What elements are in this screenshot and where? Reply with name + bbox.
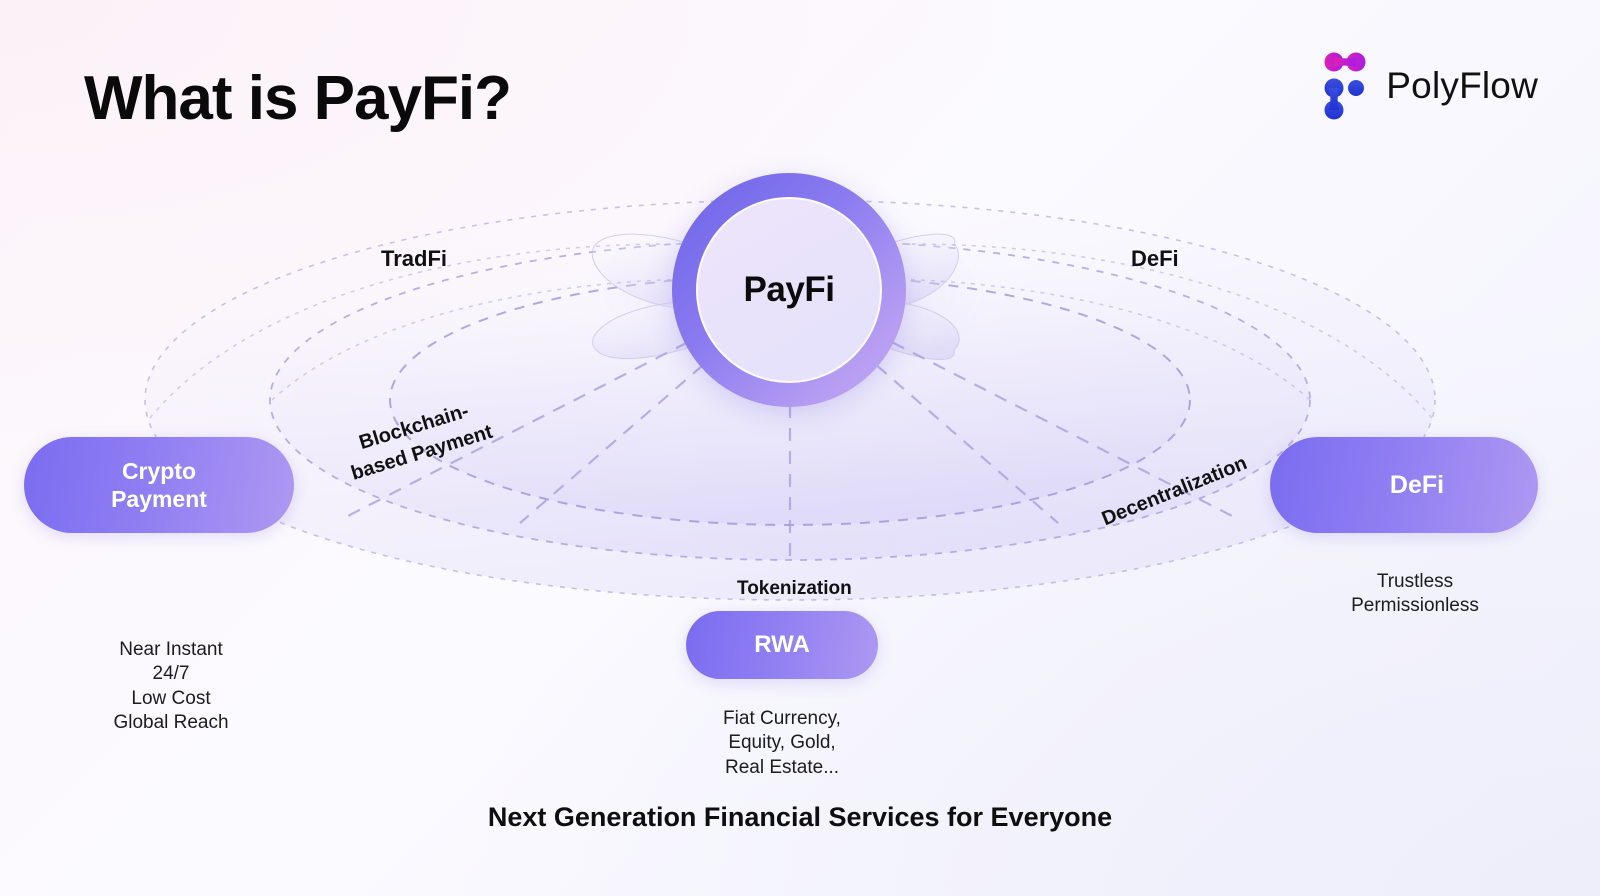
caption-rwa: Fiat Currency, Equity, Gold, Real Estate… — [673, 707, 891, 780]
caption-crypto-payment: Near Instant 24/7 Low Cost Global Reach — [56, 638, 286, 735]
node-pill-defi-label: DeFi — [1390, 470, 1444, 501]
center-node-inner: PayFi — [696, 197, 882, 383]
footer-tagline: Next Generation Financial Services for E… — [0, 802, 1600, 833]
caption-defi: Trustless Permissionless — [1300, 570, 1530, 619]
ring-label-tokenization: Tokenization — [737, 578, 852, 600]
node-pill-defi[interactable]: DeFi — [1270, 437, 1538, 533]
ring-label-tradfi: TradFi — [381, 246, 447, 272]
node-pill-rwa[interactable]: RWA — [686, 611, 878, 679]
node-pill-rwa-label: RWA — [754, 630, 810, 659]
node-pill-crypto-payment-label: Crypto Payment — [111, 457, 207, 513]
node-pill-crypto-payment[interactable]: Crypto Payment — [24, 437, 294, 533]
center-node-payfi[interactable]: PayFi — [672, 173, 906, 407]
slide-canvas: What is PayFi? — [0, 0, 1600, 896]
ring-label-defi: DeFi — [1131, 246, 1179, 272]
crypto-payment-line2: Payment — [111, 486, 207, 512]
center-node-label: PayFi — [744, 270, 835, 310]
crypto-payment-line1: Crypto — [122, 458, 196, 484]
